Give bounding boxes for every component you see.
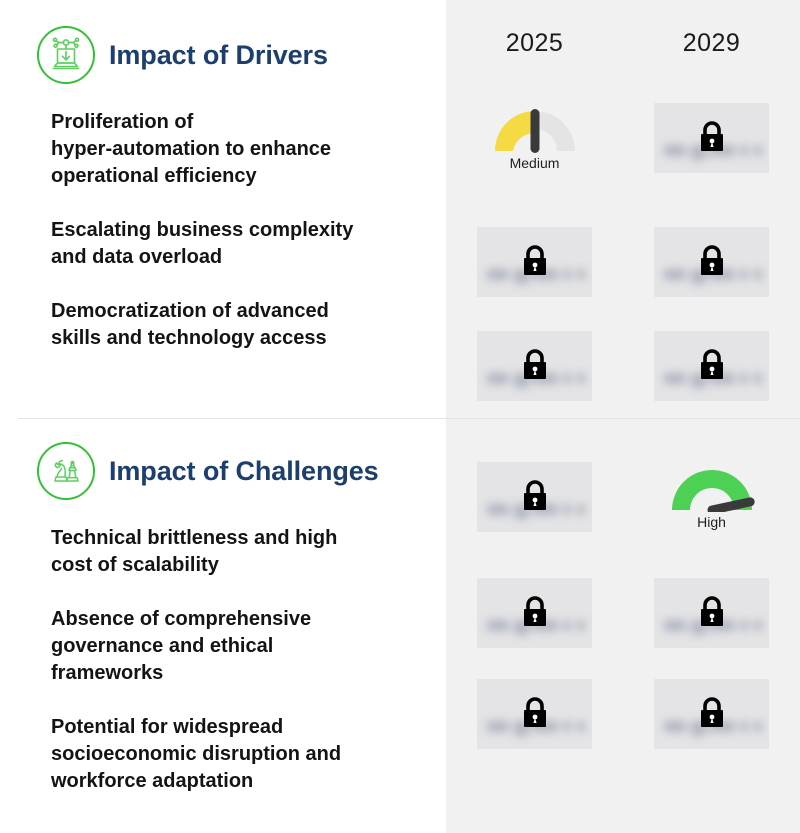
locked-tile[interactable] [654, 103, 769, 173]
locked-tile[interactable] [477, 679, 592, 749]
section-challenges: Impact of Challenges Technical brittlene… [0, 419, 800, 833]
table-row [446, 578, 800, 648]
lock-icon [695, 346, 729, 384]
list-item: Technical brittleness and high cost of s… [51, 525, 430, 579]
locked-tile[interactable] [477, 227, 592, 297]
list-item: Escalating business complexity and data … [51, 217, 430, 271]
lock-icon [695, 694, 729, 732]
cell-challenges-r1-2029: High [623, 462, 800, 532]
cell-drivers-r3-2029 [623, 331, 800, 401]
table-row [446, 679, 800, 749]
section-drivers: Impact of Drivers Proliferation of hyper… [0, 0, 800, 418]
challenges-left-column: Impact of Challenges Technical brittlene… [0, 419, 446, 833]
challenges-data-grid: High [446, 419, 800, 833]
lock-icon [518, 242, 552, 280]
list-item: Democratization of advanced skills and t… [51, 298, 430, 352]
lock-icon [518, 346, 552, 384]
locked-tile[interactable] [654, 679, 769, 749]
locked-tile[interactable] [654, 331, 769, 401]
drivers-title: Impact of Drivers [109, 40, 328, 71]
list-item: Absence of comprehensive governance and … [51, 606, 430, 687]
challenges-item-list: Technical brittleness and high cost of s… [0, 500, 446, 795]
impact-matrix-root: 2025 2029 [0, 0, 800, 833]
cell-drivers-r1-2025: Medium [446, 103, 623, 173]
cell-drivers-r2-2029 [623, 227, 800, 297]
cell-challenges-r2-2029 [623, 578, 800, 648]
lock-icon [695, 242, 729, 280]
cell-challenges-r1-2025 [446, 462, 623, 532]
lock-icon [518, 694, 552, 732]
gauge-arc-icon [666, 462, 758, 512]
lock-icon [518, 477, 552, 515]
drivers-item-list: Proliferation of hyper-automation to enh… [0, 84, 446, 352]
lock-icon [695, 593, 729, 631]
cell-drivers-r3-2025 [446, 331, 623, 401]
cell-challenges-r3-2025 [446, 679, 623, 749]
gauge-high: High [666, 462, 758, 530]
lock-icon [518, 593, 552, 631]
table-row: Medium [446, 103, 800, 173]
cell-challenges-r3-2029 [623, 679, 800, 749]
table-row [446, 227, 800, 297]
cell-drivers-r2-2025 [446, 227, 623, 297]
drivers-data-grid: Medium [446, 0, 800, 418]
cell-drivers-r1-2029 [623, 103, 800, 173]
locked-tile[interactable] [654, 227, 769, 297]
lock-icon [695, 118, 729, 156]
automation-laptop-icon [37, 26, 95, 84]
gauge-label: High [697, 514, 726, 530]
challenges-heading: Impact of Challenges [0, 419, 446, 500]
table-row: High [446, 462, 800, 532]
locked-tile[interactable] [654, 578, 769, 648]
chess-pieces-icon [37, 442, 95, 500]
locked-tile[interactable] [477, 331, 592, 401]
gauge-label: Medium [510, 155, 560, 171]
list-item: Potential for widespread socioeconomic d… [51, 714, 430, 795]
list-item: Proliferation of hyper-automation to enh… [51, 109, 430, 190]
locked-tile[interactable] [477, 578, 592, 648]
challenges-title: Impact of Challenges [109, 456, 379, 487]
gauge-arc-icon [489, 103, 581, 153]
drivers-left-column: Impact of Drivers Proliferation of hyper… [0, 0, 446, 418]
locked-tile[interactable] [477, 462, 592, 532]
table-row [446, 331, 800, 401]
gauge-medium: Medium [489, 103, 581, 171]
cell-challenges-r2-2025 [446, 578, 623, 648]
drivers-heading: Impact of Drivers [0, 0, 446, 84]
